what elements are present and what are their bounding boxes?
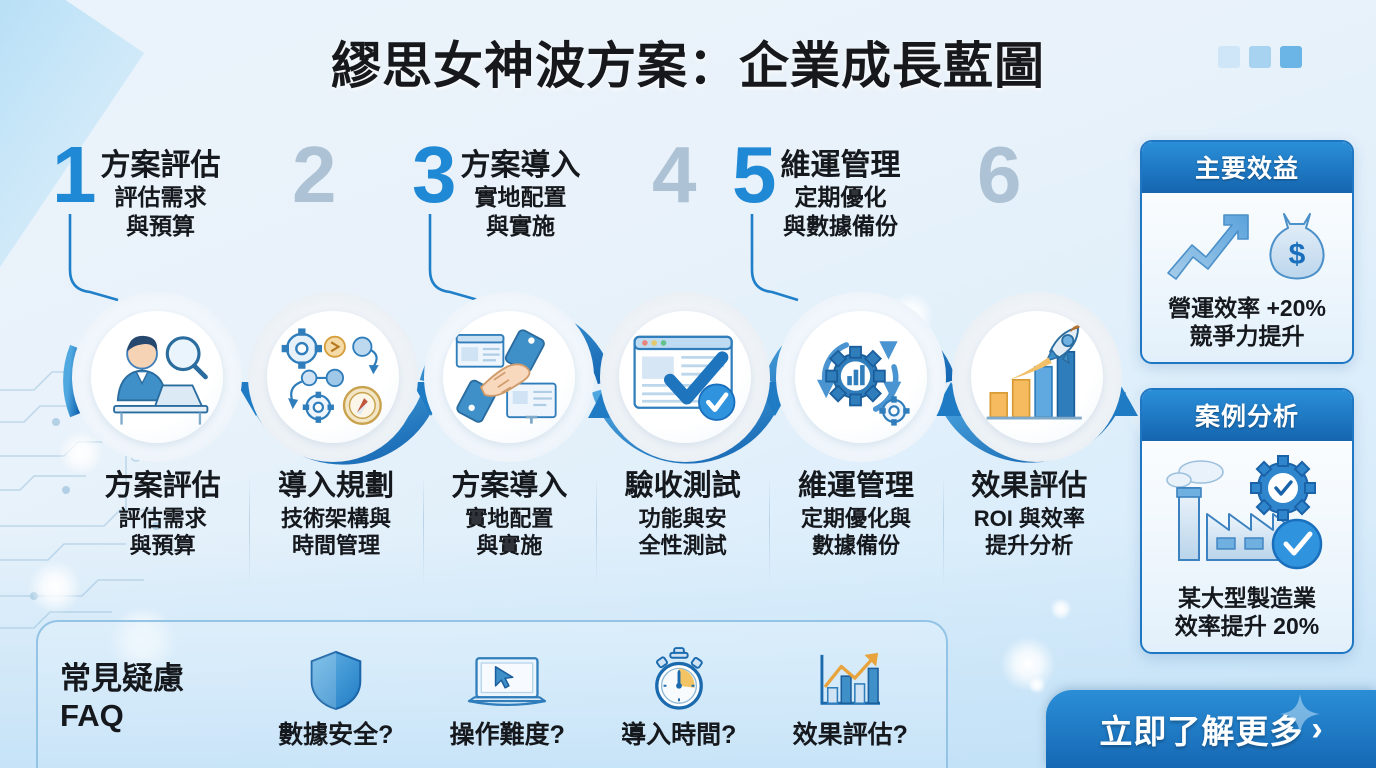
check-badge-icon bbox=[1273, 520, 1321, 568]
cta-button[interactable]: 立即了解更多 › bbox=[1046, 690, 1376, 768]
faq-item-3[interactable]: 導入時間? bbox=[604, 645, 754, 751]
step-head-sub2-5: 與數據備份 bbox=[781, 214, 901, 240]
step-circle-3[interactable] bbox=[424, 292, 594, 462]
step-card-desc1-4: 功能與安 bbox=[599, 506, 766, 532]
benefits-panel-icons: $ bbox=[1150, 203, 1344, 289]
case-study-text-line2: 效率提升 20% bbox=[1150, 613, 1344, 641]
step-head-title-1: 方案評估 bbox=[101, 150, 221, 182]
step-head-5: 5維運管理定期優化與數據備份 bbox=[732, 142, 901, 239]
case-study-text-line1: 某大型製造業 bbox=[1150, 585, 1344, 613]
step-head-3: 3方案導入實地配置與實施 bbox=[412, 142, 581, 239]
gear-check-icon bbox=[1251, 456, 1315, 520]
benefits-panel-header: 主要效益 bbox=[1142, 142, 1352, 193]
step-number-2: 2 bbox=[292, 142, 341, 208]
step-cards: 方案評估評估需求與預算導入規劃技術架構與時間管理方案導入實地配置與實施驗收測試功… bbox=[76, 470, 1116, 595]
step-head-sub1-1: 評估需求 bbox=[101, 185, 221, 211]
step-card-4[interactable]: 驗收測試功能與安全性測試 bbox=[596, 470, 769, 595]
laptop-cursor-icon bbox=[432, 645, 582, 711]
faq-item-label-2: 操作難度? bbox=[432, 715, 582, 751]
step-card-desc1-1: 評估需求 bbox=[79, 506, 246, 532]
rocket-growth-bars-icon bbox=[971, 311, 1103, 443]
step-card-desc2-6: 提升分析 bbox=[946, 533, 1113, 559]
faq-panel: 常見疑慮 FAQ 數據安全? 操作難度? bbox=[36, 620, 948, 768]
step-card-desc1-5: 定期優化與 bbox=[772, 506, 939, 532]
step-card-title-5: 維運管理 bbox=[772, 470, 939, 502]
svg-text:$: $ bbox=[1289, 238, 1306, 271]
handshake-monitors-icon bbox=[443, 311, 575, 443]
step-head-sub2-1: 與預算 bbox=[101, 214, 221, 240]
case-study-panel-header: 案例分析 bbox=[1142, 390, 1352, 441]
faq-item-label-4: 效果評估? bbox=[775, 715, 925, 751]
browser-checkmark-icon bbox=[619, 311, 751, 443]
faq-item-2[interactable]: 操作難度? bbox=[432, 645, 582, 751]
step-card-desc2-2: 時間管理 bbox=[252, 533, 419, 559]
step-head-title-3: 方案導入 bbox=[461, 150, 581, 182]
step-number-1: 1 bbox=[52, 142, 101, 208]
step-card-desc2-4: 全性測試 bbox=[599, 533, 766, 559]
step-card-desc1-6: ROI 與效率 bbox=[946, 506, 1113, 532]
benefits-panel[interactable]: 主要效益 $ 營運效率 +20% 競爭力提升 bbox=[1140, 140, 1354, 364]
infographic-root: 繆思女神波方案：企業成長藍圖 1方案評估評估需求與預算23方案導入實地配置與實施… bbox=[0, 0, 1376, 768]
step-head-sub1-3: 實地配置 bbox=[461, 185, 581, 211]
step-card-desc1-3: 實地配置 bbox=[426, 506, 593, 532]
step-number-6: 6 bbox=[977, 142, 1026, 208]
stopwatch-icon bbox=[604, 645, 754, 711]
factory-icon bbox=[1157, 452, 1337, 578]
glow-decor bbox=[1000, 636, 1056, 692]
faq-item-1[interactable]: 數據安全? bbox=[261, 645, 411, 751]
step-card-1[interactable]: 方案評估評估需求與預算 bbox=[76, 470, 249, 595]
faq-item-4[interactable]: 效果評估? bbox=[775, 645, 925, 751]
step-card-title-3: 方案導入 bbox=[426, 470, 593, 502]
step-head-1: 1方案評估評估需求與預算 bbox=[52, 142, 221, 239]
shield-icon bbox=[261, 645, 411, 711]
step-circle-2[interactable] bbox=[248, 292, 418, 462]
gear-chart-cycle-icon bbox=[795, 311, 927, 443]
step-card-5[interactable]: 維運管理定期優化與數據備份 bbox=[769, 470, 942, 595]
analyst-laptop-magnifier-icon bbox=[91, 311, 223, 443]
step-head-sub2-3: 與實施 bbox=[461, 214, 581, 240]
step-card-desc2-3: 與實施 bbox=[426, 533, 593, 559]
step-head-sub1-5: 定期優化 bbox=[781, 185, 901, 211]
faq-label: 常見疑慮 FAQ bbox=[60, 661, 250, 734]
page-title: 繆思女神波方案：企業成長藍圖 bbox=[0, 26, 1376, 98]
benefits-text-line1: 營運效率 +20% bbox=[1150, 295, 1344, 323]
step-circles bbox=[72, 292, 1122, 462]
step-head-6: 6 bbox=[977, 142, 1026, 208]
bar-chart-arrow-icon bbox=[775, 645, 925, 711]
faq-label-line2: FAQ bbox=[60, 698, 250, 735]
glow-decor bbox=[1028, 676, 1046, 694]
step-heads: 1方案評估評估需求與預算23方案導入實地配置與實施45維運管理定期優化與數據備份… bbox=[22, 142, 1112, 292]
step-number-5: 5 bbox=[732, 142, 781, 208]
step-head-title-5: 維運管理 bbox=[781, 150, 901, 182]
step-card-3[interactable]: 方案導入實地配置與實施 bbox=[423, 470, 596, 595]
step-card-title-4: 驗收測試 bbox=[599, 470, 766, 502]
step-card-title-6: 效果評估 bbox=[946, 470, 1113, 502]
step-card-desc2-5: 數據備份 bbox=[772, 533, 939, 559]
step-circle-1[interactable] bbox=[72, 292, 242, 462]
case-study-panel-icons bbox=[1150, 451, 1344, 579]
faq-label-line1: 常見疑慮 bbox=[60, 661, 250, 698]
faq-items: 數據安全? 操作難度? 導入時間? bbox=[250, 645, 936, 751]
step-number-4: 4 bbox=[652, 142, 701, 208]
step-head-2: 2 bbox=[292, 142, 341, 208]
glow-decor bbox=[28, 560, 82, 614]
step-circle-6[interactable] bbox=[952, 292, 1122, 462]
step-circle-5[interactable] bbox=[776, 292, 946, 462]
step-head-4: 4 bbox=[652, 142, 701, 208]
step-card-title-1: 方案評估 bbox=[79, 470, 246, 502]
step-card-desc2-1: 與預算 bbox=[79, 533, 246, 559]
gears-flowchart-compass-icon bbox=[267, 311, 399, 443]
glow-decor bbox=[1050, 598, 1072, 620]
faq-item-label-3: 導入時間? bbox=[604, 715, 754, 751]
step-number-3: 3 bbox=[412, 142, 461, 208]
sparkle-icon bbox=[1280, 694, 1320, 734]
case-study-panel[interactable]: 案例分析 bbox=[1140, 388, 1354, 654]
cta-label: 立即了解更多 bbox=[1099, 705, 1303, 753]
step-circle-4[interactable] bbox=[600, 292, 770, 462]
step-card-6[interactable]: 效果評估ROI 與效率提升分析 bbox=[943, 470, 1116, 595]
trend-up-arrow-icon bbox=[1162, 207, 1254, 285]
faq-item-label-1: 數據安全? bbox=[261, 715, 411, 751]
step-card-desc1-2: 技術架構與 bbox=[252, 506, 419, 532]
step-card-title-2: 導入規劃 bbox=[252, 470, 419, 502]
money-bag-icon: $ bbox=[1262, 206, 1332, 286]
benefits-text-line2: 競爭力提升 bbox=[1150, 323, 1344, 351]
step-card-2[interactable]: 導入規劃技術架構與時間管理 bbox=[249, 470, 422, 595]
